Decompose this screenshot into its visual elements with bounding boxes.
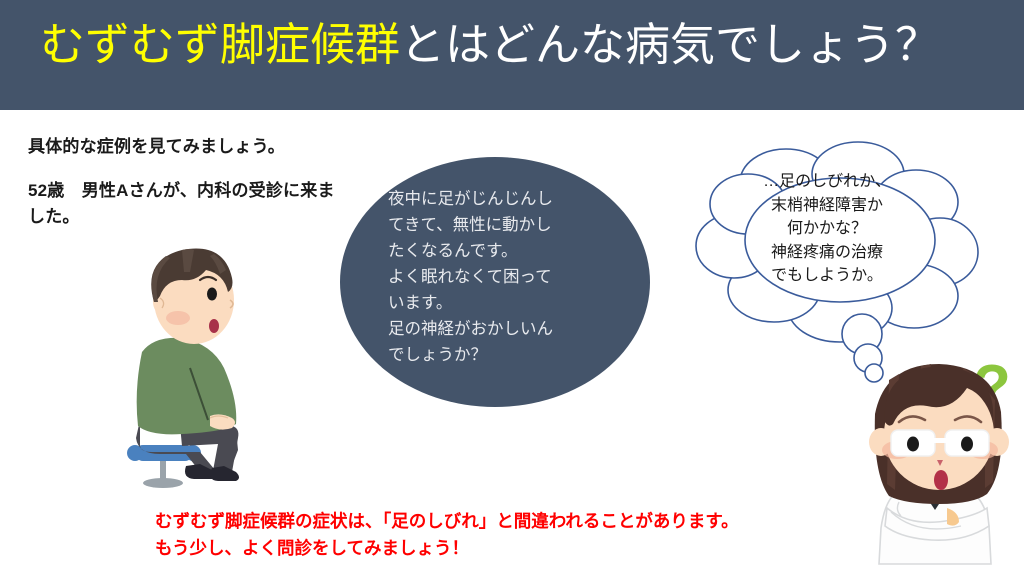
slide-canvas: むずむず脚症候群とはどんな病気でしょう？ 具体的な症例を見てみましょう。 52歳… <box>0 0 1024 576</box>
page-title-rest: とはどんな病気でしょう？ <box>400 19 940 70</box>
head <box>151 249 234 344</box>
patient-speech-text: 夜中に足がじんじんし てきて、無性に動かし たくなるんです。 よく眠れなくて困っ… <box>388 186 613 368</box>
page-title: むずむず脚症候群とはどんな病気でしょう？ <box>40 14 940 76</box>
intro-heading: 具体的な症例を見てみましょう。 <box>28 132 285 157</box>
green-sweater <box>137 338 237 435</box>
bottom-note-text: むずむず脚症候群の症状は、「足のしびれ」と間違われることがあります。 もう少し、… <box>155 508 855 562</box>
female-doctor-illustration: ? <box>855 350 1024 576</box>
page-title-highlight: むずむず脚症候群 <box>40 19 400 70</box>
doctor-thought-text: …足のしびれか、 末梢神経障害か 何かかな？ 神経疼痛の治療 でもしようか。 <box>722 170 932 288</box>
